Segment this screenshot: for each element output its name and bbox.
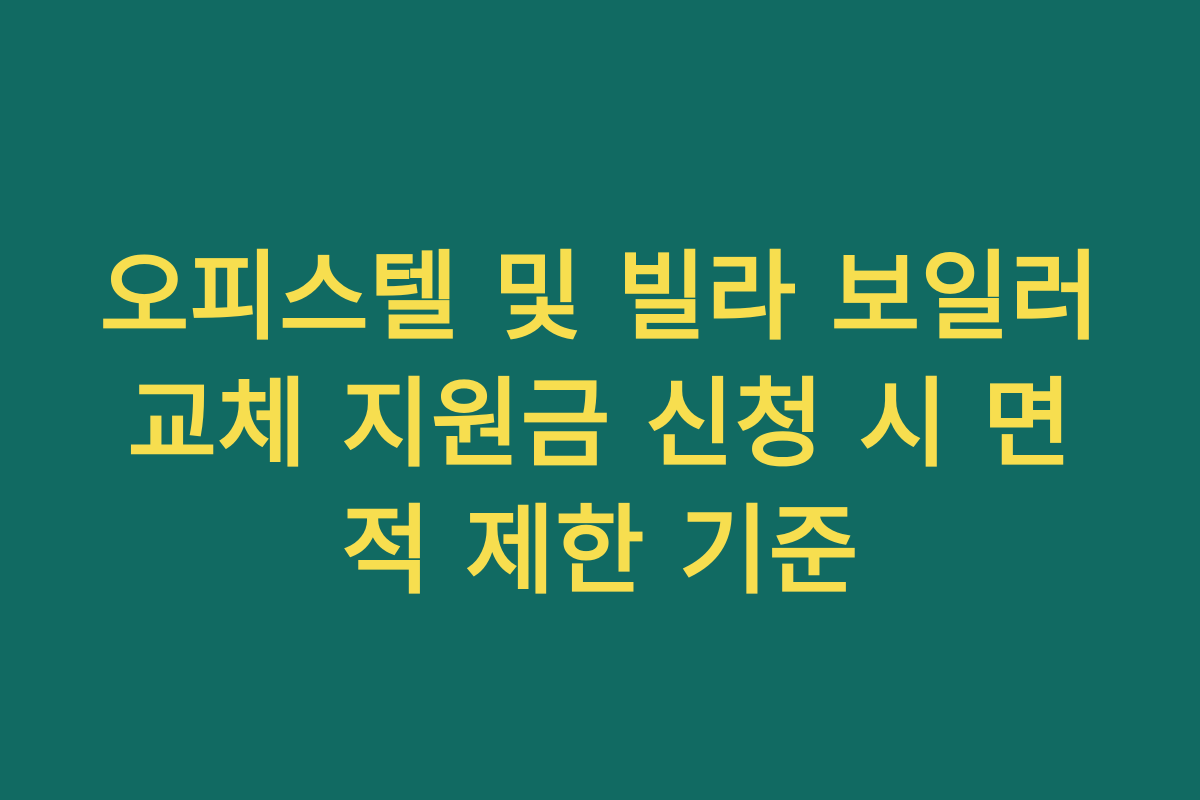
thumbnail-canvas: 오피스텔 및 빌라 보일러 교체 지원금 신청 시 면적 제한 기준 — [0, 0, 1200, 800]
page-title: 오피스텔 및 빌라 보일러 교체 지원금 신청 시 면적 제한 기준 — [95, 234, 1105, 615]
title-block: 오피스텔 및 빌라 보일러 교체 지원금 신청 시 면적 제한 기준 — [95, 234, 1105, 615]
